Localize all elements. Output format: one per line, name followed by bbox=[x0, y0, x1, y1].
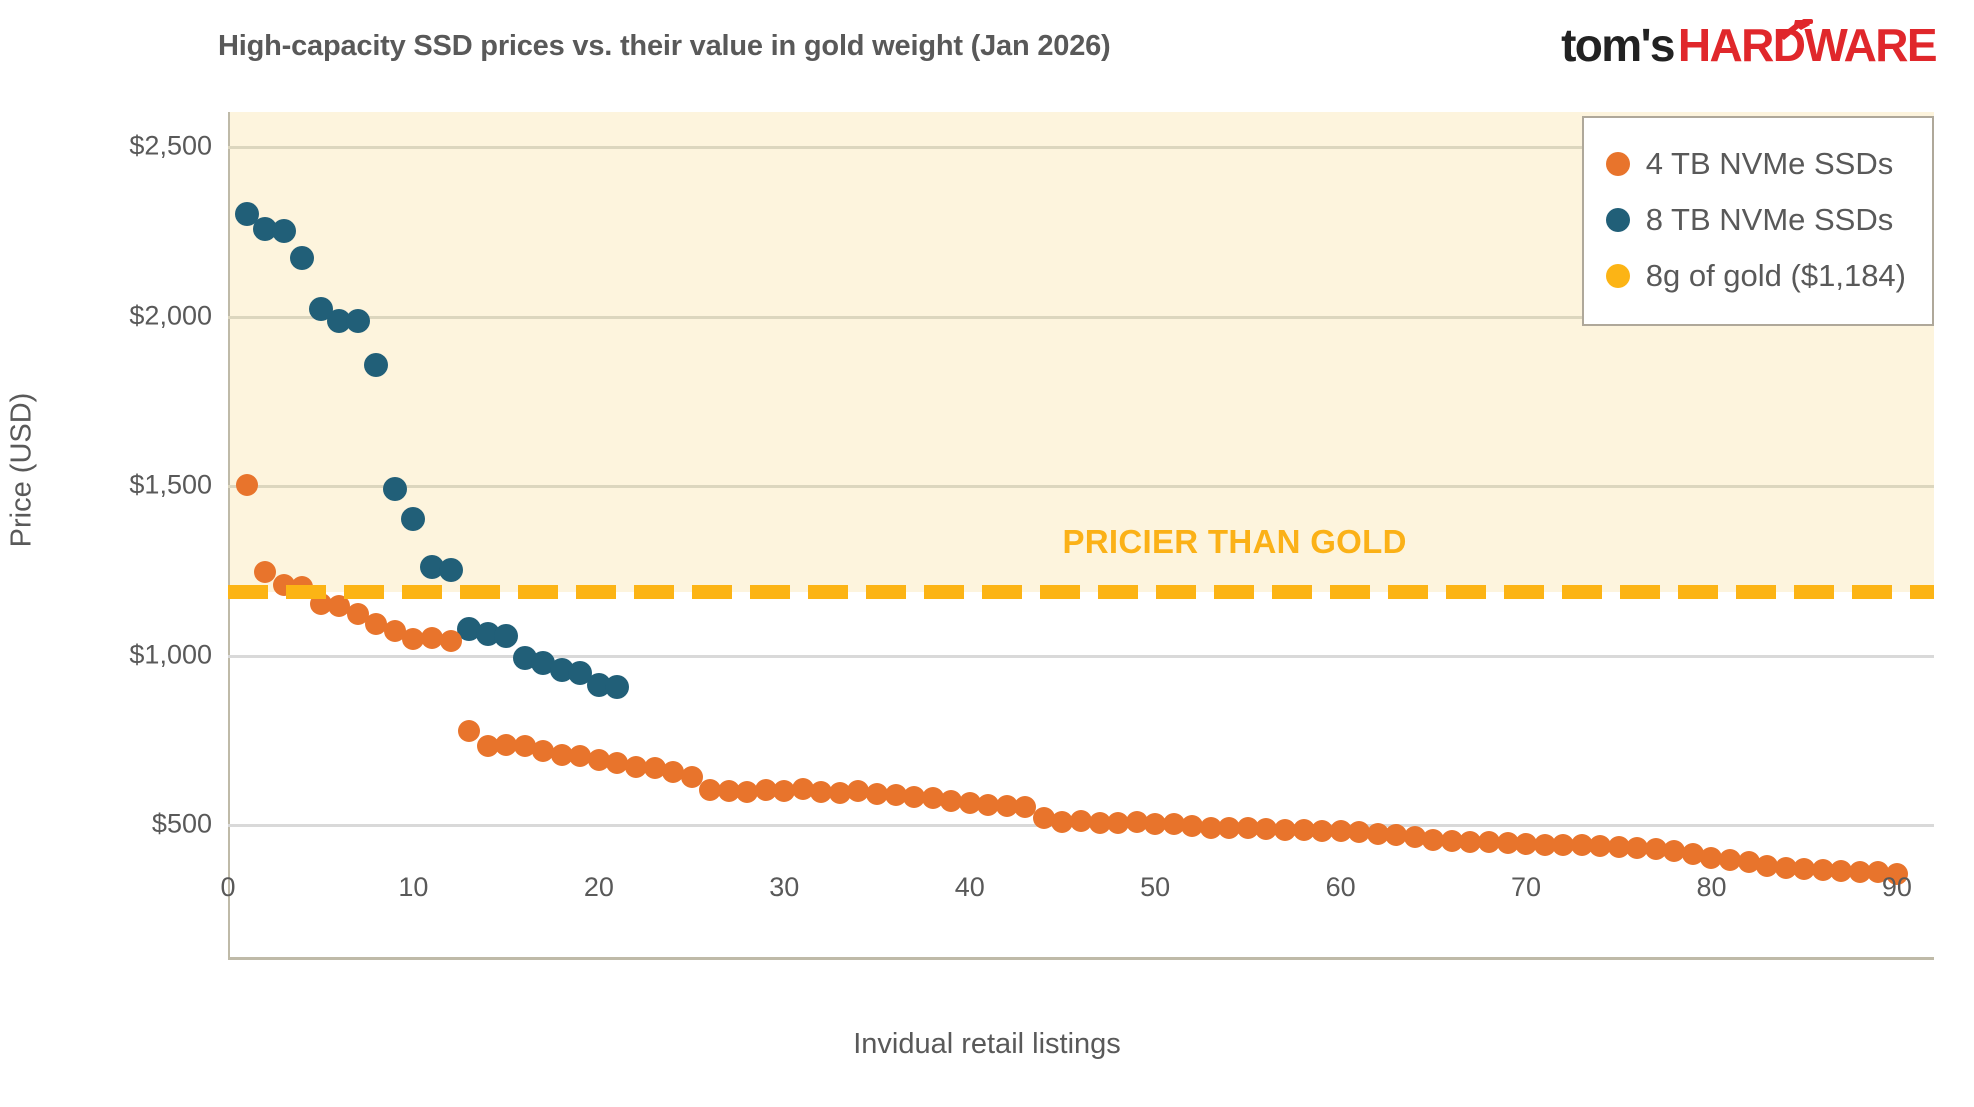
legend-label: 8 TB NVMe SSDs bbox=[1646, 202, 1894, 238]
logo-toms-text: tom's bbox=[1561, 22, 1674, 68]
legend: 4 TB NVMe SSDs8 TB NVMe SSDs8g of gold (… bbox=[1582, 116, 1934, 326]
data-point bbox=[605, 675, 629, 699]
legend-marker-icon bbox=[1606, 264, 1630, 288]
x-tick-label: 30 bbox=[769, 872, 799, 903]
data-point bbox=[364, 353, 388, 377]
y-axis-title: Price (USD) bbox=[6, 393, 39, 548]
y-tick-label: $1,500 bbox=[52, 470, 212, 501]
legend-item-1[interactable]: 8 TB NVMe SSDs bbox=[1606, 192, 1906, 248]
legend-label: 8g of gold ($1,184) bbox=[1646, 258, 1906, 294]
gridline bbox=[228, 485, 1934, 488]
x-tick-label: 80 bbox=[1696, 872, 1726, 903]
x-tick-label: 60 bbox=[1326, 872, 1356, 903]
data-point bbox=[494, 624, 518, 648]
data-point bbox=[440, 630, 462, 652]
x-tick-label: 0 bbox=[220, 872, 235, 903]
hammer-icon bbox=[1776, 18, 1816, 44]
y-tick-label: $500 bbox=[52, 809, 212, 840]
y-tick-label: $1,000 bbox=[52, 639, 212, 670]
x-axis-title: Invidual retail listings bbox=[0, 1028, 1974, 1061]
x-tick-label: 10 bbox=[398, 872, 428, 903]
x-axis-line bbox=[228, 957, 1934, 960]
toms-hardware-logo: tom's HARDWARE bbox=[1561, 22, 1936, 68]
legend-item-0[interactable]: 4 TB NVMe SSDs bbox=[1606, 136, 1906, 192]
y-tick-label: $2,000 bbox=[52, 300, 212, 331]
y-tick-label: $2,500 bbox=[52, 130, 212, 161]
data-point bbox=[236, 474, 258, 496]
gridline bbox=[228, 655, 1934, 658]
data-point bbox=[458, 720, 480, 742]
x-tick-label: 90 bbox=[1882, 872, 1912, 903]
gold-annotation-label: PRICIER THAN GOLD bbox=[1062, 523, 1406, 561]
y-axis-line bbox=[228, 112, 230, 960]
legend-marker-icon bbox=[1606, 208, 1630, 232]
legend-label: 4 TB NVMe SSDs bbox=[1646, 146, 1894, 182]
x-tick-label: 20 bbox=[584, 872, 614, 903]
data-point bbox=[439, 558, 463, 582]
legend-marker-icon bbox=[1606, 152, 1630, 176]
x-tick-label: 40 bbox=[955, 872, 985, 903]
data-point bbox=[383, 477, 407, 501]
page-title: High-capacity SSD prices vs. their value… bbox=[218, 30, 1111, 63]
data-point bbox=[272, 219, 296, 243]
x-tick-label: 70 bbox=[1511, 872, 1541, 903]
data-point bbox=[346, 309, 370, 333]
data-point bbox=[290, 246, 314, 270]
chart-page: High-capacity SSD prices vs. their value… bbox=[0, 0, 1974, 1107]
legend-item-2[interactable]: 8g of gold ($1,184) bbox=[1606, 248, 1906, 304]
gold-threshold-line bbox=[228, 585, 1934, 599]
x-tick-label: 50 bbox=[1140, 872, 1170, 903]
logo-hardware-wrap: HARDWARE bbox=[1678, 22, 1936, 68]
data-point bbox=[401, 507, 425, 531]
